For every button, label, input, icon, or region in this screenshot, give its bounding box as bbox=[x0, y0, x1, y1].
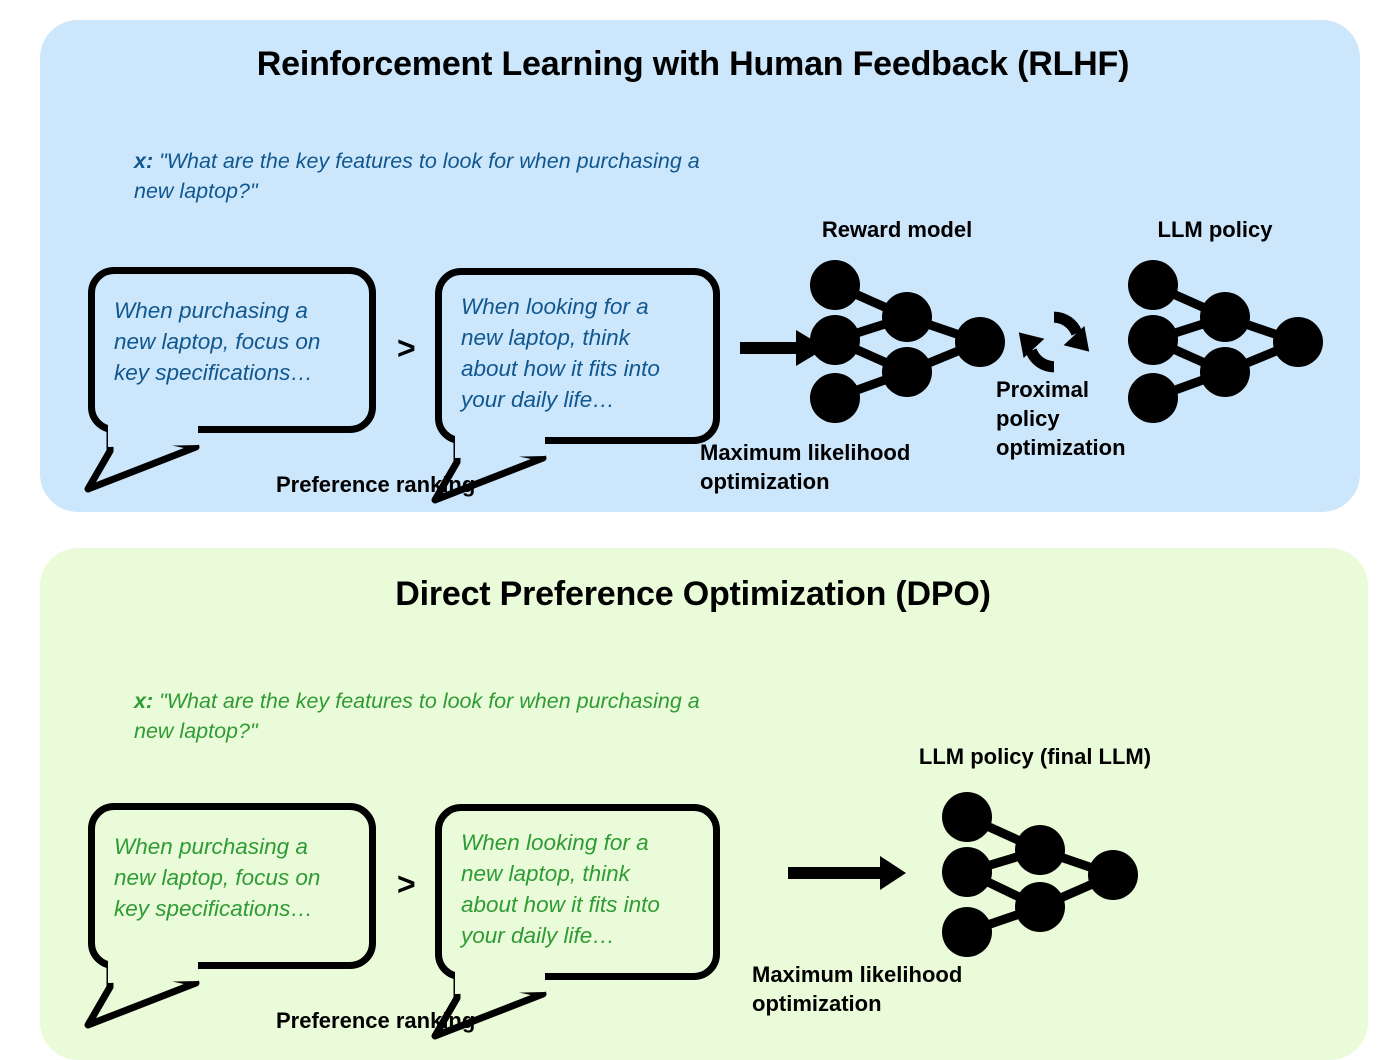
bubble-text: When looking for a new laptop, think abo… bbox=[461, 291, 711, 415]
rlhf-ppo-caption: Proximal policy optimization bbox=[996, 375, 1126, 462]
neuron-node-icon bbox=[942, 792, 1138, 957]
rlhf-prompt-label: x: bbox=[134, 149, 153, 173]
diagram-canvas: Reinforcement Learning with Human Feedba… bbox=[0, 0, 1386, 1060]
rlhf-title: Reinforcement Learning with Human Feedba… bbox=[0, 45, 1386, 84]
circular-arrows-icon bbox=[1012, 302, 1096, 382]
neuron-node-icon bbox=[810, 260, 1005, 423]
dpo-title: Direct Preference Optimization (DPO) bbox=[0, 575, 1386, 614]
rlhf-rejected-response-bubble: When looking for a new laptop, think abo… bbox=[435, 268, 720, 493]
rlhf-llm-policy-label: LLM policy bbox=[1130, 217, 1300, 243]
dpo-llm-policy-network bbox=[930, 780, 1145, 960]
right-arrow-icon bbox=[788, 853, 908, 893]
dpo-comparator: > bbox=[397, 866, 416, 903]
dpo-mle-caption: Maximum likelihood optimization bbox=[752, 960, 962, 1018]
rlhf-preference-ranking-caption: Preference ranking bbox=[276, 470, 475, 499]
bubble-tail bbox=[86, 953, 216, 1033]
dpo-llm-policy-label: LLM policy (final LLM) bbox=[890, 744, 1180, 770]
rlhf-comparator: > bbox=[397, 330, 416, 367]
bubble-text: When purchasing a new laptop, focus on k… bbox=[114, 831, 364, 924]
bubble-text: When looking for a new laptop, think abo… bbox=[461, 827, 711, 951]
dpo-preferred-response-bubble: When purchasing a new laptop, focus on k… bbox=[88, 803, 378, 1018]
dpo-preference-ranking-caption: Preference ranking bbox=[276, 1006, 475, 1035]
bubble-tail bbox=[86, 417, 216, 497]
dpo-prompt-label: x: bbox=[134, 689, 153, 713]
rlhf-preferred-response-bubble: When purchasing a new laptop, focus on k… bbox=[88, 267, 378, 482]
dpo-prompt-text: "What are the key features to look for w… bbox=[134, 689, 700, 743]
reward-model-network bbox=[800, 250, 1015, 425]
bubble-text: When purchasing a new laptop, focus on k… bbox=[114, 295, 364, 388]
reward-model-label: Reward model bbox=[812, 217, 982, 243]
rlhf-mle-caption: Maximum likelihood optimization bbox=[700, 438, 910, 496]
dpo-prompt: x: "What are the key features to look fo… bbox=[134, 686, 734, 746]
dpo-rejected-response-bubble: When looking for a new laptop, think abo… bbox=[435, 804, 720, 1029]
rlhf-llm-policy-network bbox=[1118, 250, 1333, 425]
rlhf-prompt-text: "What are the key features to look for w… bbox=[134, 149, 700, 203]
rlhf-prompt: x: "What are the key features to look fo… bbox=[134, 146, 734, 206]
neuron-node-icon bbox=[1128, 260, 1323, 423]
